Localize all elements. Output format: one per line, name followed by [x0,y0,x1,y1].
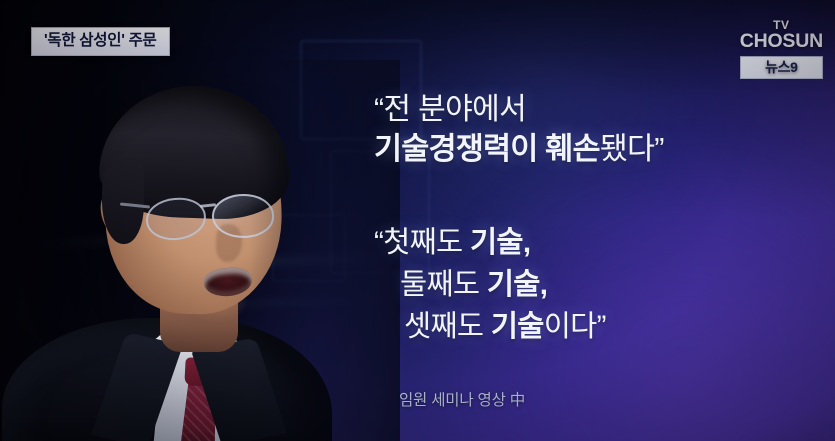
quote-primary: “전 분야에서 기술경쟁력이 훼손됐다” [374,92,826,168]
speaker-hair-side [102,158,144,244]
speaker-chin [186,292,248,322]
broadcast-frame: '독한 삼성인' 주문 TV CHOSUN 뉴스9 “전 분야에서 기술경쟁력이… [0,0,835,441]
program-name-badge: 뉴스9 [740,56,823,79]
quote-secondary-line-3: 셋째도 기술이다” [374,306,826,348]
network-logo-chosun-text: CHOSUN [740,32,823,52]
quote-secondary-line-2-emphasis: 기술 [487,268,540,301]
quote-secondary-line-2-tail: , [540,268,548,301]
network-logo: TV CHOSUN 뉴스9 [740,19,823,79]
open-quote-mark-secondary: “ [374,226,383,259]
topic-badge: '독한 삼성인' 주문 [31,27,170,56]
quote-secondary-line-1-lead: 첫째도 [383,226,470,259]
quote-primary-line-1-text: 전 분야에서 [383,93,526,126]
open-quote-mark: “ [374,93,383,126]
quote-primary-line-1: “전 분야에서 [374,92,826,129]
quote-secondary: “첫째도 기술, 둘째도 기술, 셋째도 기술이다” [374,222,826,348]
quote-secondary-line-3-tail: 이다 [544,310,597,343]
speaker-portrait [0,0,400,441]
quote-secondary-line-2: 둘째도 기술, [374,264,826,306]
quote-secondary-line-3-emphasis: 기술 [491,310,544,343]
quote-secondary-line-1-emphasis: 기술 [470,226,523,259]
source-caption: 임원 세미나 영상 中 [399,388,525,410]
quote-secondary-line-3-lead: 셋째도 [404,310,491,343]
quote-secondary-line-1-tail: , [523,226,531,259]
quote-primary-line-2: 기술경쟁력이 훼손됐다” [374,131,826,168]
quote-secondary-line-2-lead: 둘째도 [400,268,487,301]
close-quote-mark: ” [654,132,663,166]
quote-secondary-line-1: “첫째도 기술, [374,222,826,264]
close-quote-mark-secondary: ” [597,310,606,343]
quote-primary-emphasis: 기술경쟁력이 훼손 [374,132,600,166]
quote-primary-line-2-tail: 됐다 [600,132,655,166]
